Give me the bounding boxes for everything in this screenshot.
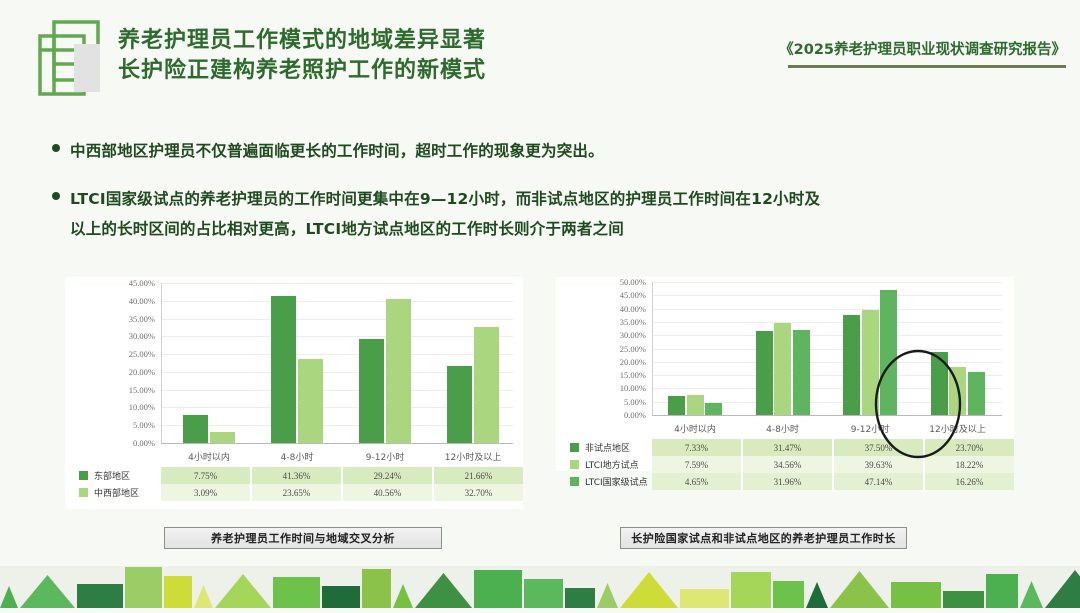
bar: [793, 330, 810, 415]
legend-color-swatch: [570, 477, 579, 486]
data-value-cell: 23.65%: [252, 484, 343, 501]
highlight-ellipse-annotation: [872, 348, 964, 465]
bullet-text: LTCI国家级试点的养老护理员的工作时间更集中在9—12小时，而非试点地区的护理…: [70, 184, 820, 214]
gridline: [161, 354, 513, 355]
data-value-cell: 7.59%: [652, 456, 743, 473]
data-value-cell: 7.33%: [652, 439, 743, 456]
y-axis-tick-label: 0.00%: [133, 438, 155, 448]
gridline: [161, 283, 513, 284]
bullet-text-cont: 以上的长时区间的占比相对更高，LTCI地方试点地区的工作时长则介于两者之间: [70, 214, 820, 244]
report-underline: [788, 65, 1066, 68]
gridline: [652, 282, 1002, 283]
legend-series-label: LTCI国家级试点: [585, 475, 648, 488]
y-axis-tick-label: 10.00%: [129, 402, 155, 412]
bar: [687, 395, 704, 415]
data-value-cell: 21.66%: [434, 467, 523, 484]
legend-color-swatch: [570, 460, 579, 469]
slide-header: 养老护理员工作模式的地域差异显著 长护险正建构养老照护工作的新模式 《2025养…: [0, 0, 1080, 118]
y-axis-tick-label: 45.00%: [129, 278, 155, 288]
y-axis-tick-label: 40.00%: [129, 296, 155, 306]
legend-series-label: 中西部地区: [94, 486, 139, 499]
y-axis-tick-label: 50.00%: [620, 277, 646, 287]
x-axis-category-label: 9-12小时: [366, 450, 404, 463]
data-value-cell: 7.75%: [161, 467, 252, 484]
gridline: [652, 309, 1002, 310]
y-axis-tick-label: 5.00%: [624, 397, 646, 407]
y-axis-tick-label: 20.00%: [129, 367, 155, 377]
report-source: 《2025养老护理员职业现状调查研究报告》: [779, 38, 1066, 68]
y-axis-tick-label: 35.00%: [129, 314, 155, 324]
bar: [183, 415, 208, 443]
bar: [474, 327, 499, 443]
bar: [210, 432, 235, 443]
legend-color-swatch: [570, 443, 579, 452]
left-chart-panel: 0.00%5.00%10.00%15.00%20.00%25.00%30.00%…: [65, 277, 523, 509]
data-value-cell: 47.14%: [834, 473, 925, 490]
legend-entry: 非试点地区: [556, 439, 652, 456]
left-chart-caption: 养老护理员工作时间与地域交叉分析: [164, 527, 442, 549]
bar: [668, 396, 685, 415]
y-axis-tick-label: 45.00%: [620, 290, 646, 300]
bullet-list: 中西部地区护理员不仅普遍面临更长的工作时间，超时工作的现象更为突出。 LTCI国…: [52, 136, 1052, 244]
bar: [774, 323, 791, 415]
data-value-cell: 40.56%: [343, 484, 434, 501]
x-axis-category-label: 4-8小时: [766, 422, 799, 435]
right-chart-caption: 长护险国家试点和非试点地区的养老护理员工作时长: [620, 527, 907, 549]
bar: [968, 372, 985, 415]
legend-data-row: 中西部地区3.09%23.65%40.56%32.70%: [65, 484, 523, 501]
bar: [298, 359, 323, 443]
x-axis-category-label: 4小时以内: [674, 422, 716, 435]
bullet-dot-icon: [52, 144, 60, 152]
legend-data-row: 东部地区7.75%41.36%29.24%21.66%: [65, 467, 523, 484]
bar: [359, 339, 384, 443]
gridline: [161, 336, 513, 337]
data-value-cell: 16.26%: [925, 473, 1014, 490]
x-axis-line: [161, 443, 513, 444]
y-axis-tick-label: 10.00%: [620, 383, 646, 393]
title-line-2: 长护险正建构养老照护工作的新模式: [118, 56, 486, 86]
document-stack-icon: [36, 18, 108, 106]
bullet-item: LTCI国家级试点的养老护理员的工作时间更集中在9—12小时，而非试点地区的护理…: [52, 184, 1052, 244]
y-axis-tick-label: 25.00%: [620, 344, 646, 354]
legend-entry: LTCI地方试点: [556, 456, 652, 473]
y-axis-tick-label: 20.00%: [620, 357, 646, 367]
legend-color-swatch: [79, 471, 88, 480]
y-axis-tick-label: 30.00%: [620, 330, 646, 340]
data-value-cell: 31.96%: [743, 473, 834, 490]
bar: [843, 315, 860, 415]
legend-series-label: LTCI地方试点: [585, 458, 639, 471]
title-line-1: 养老护理员工作模式的地域差异显著: [118, 26, 486, 56]
y-axis-tick-label: 30.00%: [129, 331, 155, 341]
x-axis-category-label: 12小时及以上: [445, 450, 501, 463]
data-value-cell: 31.47%: [743, 439, 834, 456]
data-value-cell: 41.36%: [252, 467, 343, 484]
x-axis-category-label: 4-8小时: [281, 450, 314, 463]
y-axis-tick-label: 25.00%: [129, 349, 155, 359]
bar: [386, 299, 411, 443]
decorative-bottom-strip: [0, 566, 1080, 608]
data-value-cell: 4.65%: [652, 473, 743, 490]
bar: [447, 366, 472, 443]
y-axis-line: [161, 283, 162, 443]
data-value-cell: 29.24%: [343, 467, 434, 484]
legend-entry: 东部地区: [65, 467, 161, 484]
gridline: [652, 335, 1002, 336]
gridline: [652, 295, 1002, 296]
gridline: [161, 319, 513, 320]
report-title: 《2025养老护理员职业现状调查研究报告》: [779, 38, 1066, 59]
y-axis-tick-label: 40.00%: [620, 304, 646, 314]
bullet-text: 中西部地区护理员不仅普遍面临更长的工作时间，超时工作的现象更为突出。: [70, 136, 604, 166]
gridline: [161, 301, 513, 302]
legend-series-label: 东部地区: [94, 469, 130, 482]
legend-entry: 中西部地区: [65, 484, 161, 501]
y-axis-tick-label: 5.00%: [133, 420, 155, 430]
y-axis-line: [652, 282, 653, 415]
bar: [271, 296, 296, 443]
x-axis-category-label: 4小时以内: [188, 450, 230, 463]
legend-entry: LTCI国家级试点: [556, 473, 652, 490]
left-chart-plot: 0.00%5.00%10.00%15.00%20.00%25.00%30.00%…: [65, 277, 523, 465]
page-title: 养老护理员工作模式的地域差异显著 长护险正建构养老照护工作的新模式: [118, 26, 486, 86]
legend-data-row: LTCI国家级试点4.65%31.96%47.14%16.26%: [556, 473, 1014, 490]
y-axis-tick-label: 15.00%: [620, 370, 646, 380]
bar: [756, 331, 773, 415]
legend-color-swatch: [79, 488, 88, 497]
y-axis-tick-label: 35.00%: [620, 317, 646, 327]
bullet-dot-icon: [52, 192, 60, 200]
legend-series-label: 非试点地区: [585, 441, 630, 454]
y-axis-tick-label: 0.00%: [624, 410, 646, 420]
data-value-cell: 3.09%: [161, 484, 252, 501]
bullet-item: 中西部地区护理员不仅普遍面临更长的工作时间，超时工作的现象更为突出。: [52, 136, 1052, 166]
data-value-cell: 34.56%: [743, 456, 834, 473]
left-chart-legend-table: 东部地区7.75%41.36%29.24%21.66%中西部地区3.09%23.…: [65, 467, 523, 501]
gridline: [652, 322, 1002, 323]
bar: [705, 403, 722, 415]
data-value-cell: 32.70%: [434, 484, 523, 501]
y-axis-tick-label: 15.00%: [129, 385, 155, 395]
